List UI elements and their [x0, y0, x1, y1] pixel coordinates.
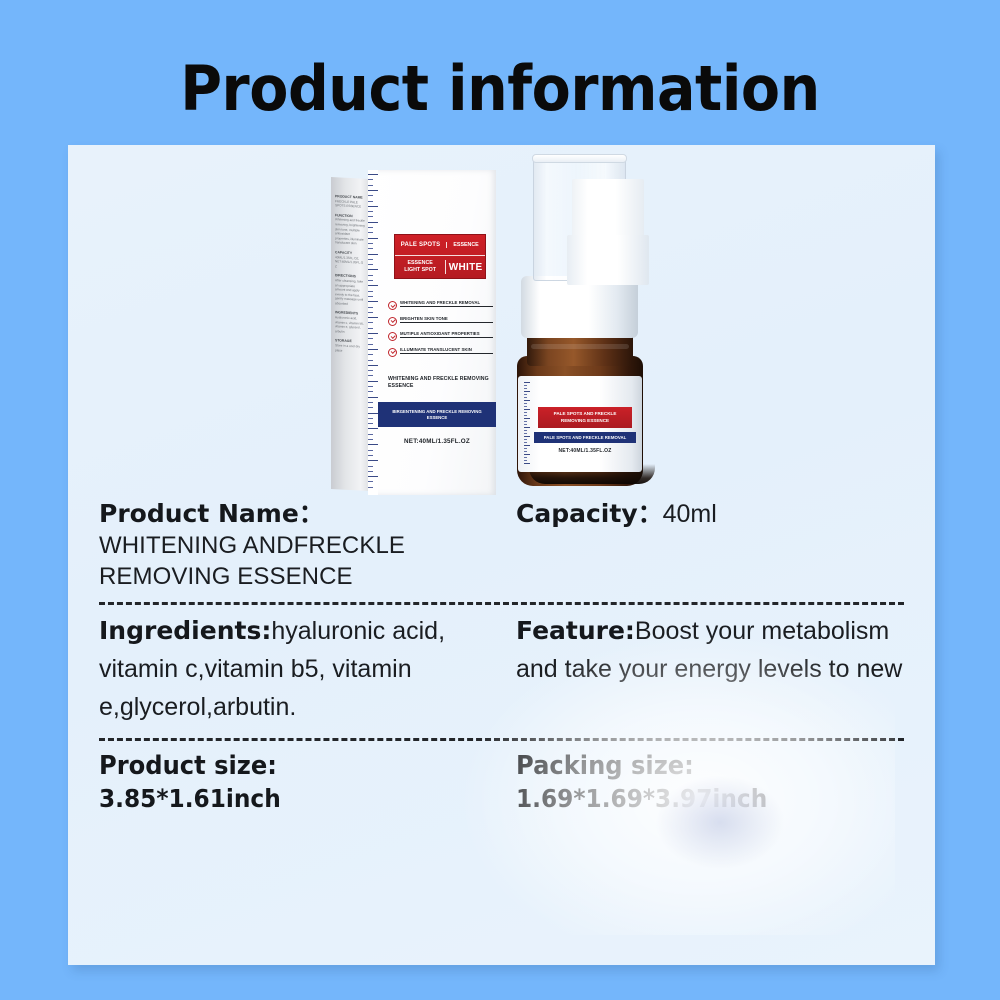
carton-red-label-essence-2: ESSENCE — [407, 260, 432, 266]
carton-net-content: NET:40ML/1.35FL.OZ — [378, 438, 496, 445]
carton-benefit-label: BRIGHTEN SKIN TONE — [400, 316, 493, 323]
carton-side-text-3: 40ML/1.35FL.OZ, NET:40ML/1.35FL.OZ — [335, 255, 363, 268]
ruler-tick — [368, 413, 378, 414]
ruler-tick — [368, 481, 373, 482]
ruler-tick — [368, 349, 378, 350]
spec-list: Product Name： WHITENING ANDFRECKLE REMOV… — [68, 497, 935, 816]
carton-benefit-item: MUTIPLE ANTIOXIDANT PROPERTIES — [388, 331, 493, 341]
ruler-tick — [368, 381, 378, 382]
carton-blue-band: BIRGENTENING AND FRECKLE REMOVING ESSENC… — [378, 402, 496, 427]
ruler-tick — [368, 360, 373, 361]
ruler-tick — [524, 385, 527, 386]
product-name-label: Product Name： — [99, 497, 516, 530]
bottle-red-band: PALE SPOTS AND FRECKLE REMOVING ESSENCE — [538, 407, 632, 428]
ruler-tick — [368, 354, 373, 355]
ruler-tick — [368, 254, 378, 255]
carton-benefit-label: WHITENING AND FRECKLE REMOVAL — [400, 300, 493, 307]
ruler-tick — [368, 434, 373, 435]
ruler-tick — [368, 296, 373, 297]
product-carton: PRODUCT NAME FRECKLE PALE SPOTS ESSENCE … — [331, 170, 496, 495]
product-name-value-line1: WHITENING ANDFRECKLE — [99, 530, 516, 561]
divider-1 — [99, 602, 904, 605]
product-photo: PRODUCT NAME FRECKLE PALE SPOTS ESSENCE … — [68, 145, 935, 495]
spec-row-name-capacity: Product Name： WHITENING ANDFRECKLE REMOV… — [68, 497, 935, 592]
carton-red-label-pale-spots: PALE SPOTS — [395, 242, 447, 248]
ruler-tick — [368, 301, 378, 302]
carton-side-text: PRODUCT NAME FRECKLE PALE SPOTS ESSENCE … — [335, 189, 365, 354]
spec-product-name: Product Name： WHITENING ANDFRECKLE REMOV… — [68, 497, 516, 592]
ruler-tick — [524, 430, 527, 431]
packing-size-label: Packing size: — [516, 750, 906, 782]
spec-row-sizes: Product size: 3.85*1.61inch Packing size… — [68, 750, 935, 816]
carton-side-text-5: Hyaluronic acid, vitamin c, vitamin b5, … — [335, 315, 364, 333]
carton-red-label-essence: ESSENCE — [447, 242, 485, 248]
ruler-tick — [368, 487, 373, 488]
bottle-blue-band: PALE SPOTS AND FRECKLE REMOVAL — [534, 432, 636, 443]
ruler-tick — [524, 463, 530, 464]
carton-red-label-light-spot-text: LIGHT SPOT — [404, 267, 436, 273]
ruler-tick — [368, 312, 373, 313]
ruler-tick — [368, 428, 378, 429]
spec-feature: Feature:Boost your metabolism and take y… — [516, 614, 935, 728]
product-size-label: Product size: — [99, 750, 487, 782]
ruler-tick — [368, 179, 373, 180]
carton-benefit-label: MUTIPLE ANTIOXIDANT PROPERTIES — [400, 331, 493, 338]
carton-side-face: PRODUCT NAME FRECKLE PALE SPOTS ESSENCE … — [331, 177, 369, 491]
ruler-tick — [368, 338, 373, 339]
ruler-tick — [524, 421, 527, 422]
ruler-tick — [368, 418, 373, 419]
ruler-tick — [524, 460, 527, 461]
ruler-tick — [368, 328, 373, 329]
carton-red-label-top-row: PALE SPOTS ESSENCE — [395, 235, 485, 256]
carton-red-label-bottom-row: ESSENCE LIGHT SPOT WHITE — [395, 255, 485, 279]
ruler-tick — [524, 448, 527, 449]
ruler-tick — [368, 291, 373, 292]
ruler-tick — [524, 415, 527, 416]
ruler-tick — [368, 466, 373, 467]
ruler-tick — [524, 406, 527, 407]
ruler-tick — [524, 403, 527, 404]
ruler-tick — [524, 427, 530, 428]
carton-ruler-graphic — [368, 170, 378, 495]
info-panel: PRODUCT NAME FRECKLE PALE SPOTS ESSENCE … — [68, 145, 935, 965]
ruler-tick — [524, 409, 530, 410]
bottle-net-content: NET:40ML/1.35FL.OZ — [534, 448, 636, 454]
ruler-tick — [368, 190, 378, 191]
check-circle-icon — [388, 317, 397, 326]
check-circle-icon — [388, 332, 397, 341]
ruler-tick — [368, 471, 373, 472]
carton-benefit-list: WHITENING AND FRECKLE REMOVALBRIGHTEN SK… — [388, 300, 493, 362]
spec-ingredients: Ingredients:hyaluronic acid, vitamin c,v… — [68, 614, 516, 728]
carton-side-text-4: After cleansing, take an appropriate amo… — [335, 278, 363, 306]
ruler-tick — [368, 174, 378, 175]
ruler-tick — [368, 275, 373, 276]
ruler-tick — [524, 418, 530, 419]
ruler-tick — [524, 445, 530, 446]
ruler-tick — [368, 227, 373, 228]
carton-side-text-2: Whitening and freckle removing, brighten… — [335, 218, 365, 246]
ruler-tick — [524, 454, 530, 455]
ruler-tick — [368, 201, 373, 202]
ruler-tick — [368, 211, 373, 212]
ruler-tick — [368, 206, 378, 207]
ruler-tick — [368, 248, 373, 249]
capacity-value: 40ml — [663, 500, 717, 528]
page-title: Product information — [40, 52, 960, 125]
ruler-tick — [368, 285, 378, 286]
ruler-tick — [524, 439, 527, 440]
ruler-tick — [524, 394, 527, 395]
ruler-tick — [368, 386, 373, 387]
spec-row-ingredients-feature: Ingredients:hyaluronic acid, vitamin c,v… — [68, 614, 935, 728]
ruler-tick — [368, 243, 373, 244]
bottle-clear-cap — [533, 156, 626, 281]
divider-2 — [99, 738, 904, 741]
ruler-tick — [368, 216, 373, 217]
carton-side-text-1: FRECKLE PALE SPOTS ESSENCE — [335, 199, 361, 209]
ruler-tick — [524, 442, 527, 443]
ruler-tick — [524, 457, 527, 458]
bottle-label-ruler-graphic — [524, 382, 530, 466]
ruler-tick — [368, 344, 373, 345]
bottle-cap-inner-lower — [567, 235, 649, 285]
ruler-tick — [524, 397, 527, 398]
carton-benefit-item: WHITENING AND FRECKLE REMOVAL — [388, 300, 493, 310]
bottle-label: PALE SPOTS AND FRECKLE REMOVING ESSENCE … — [518, 376, 642, 472]
ruler-tick — [368, 476, 378, 477]
carton-tagline: WHITENING AND FRECKLE REMOVING ESSENCE — [388, 376, 498, 390]
ruler-tick — [524, 433, 527, 434]
carton-benefit-label: ILLUMINATE TRANSLUCENT SKIN — [400, 347, 493, 354]
ruler-tick — [368, 391, 373, 392]
ruler-tick — [524, 424, 527, 425]
ruler-tick — [368, 307, 373, 308]
carton-side-text-6: Store in a cool dry place — [335, 343, 360, 352]
product-bottle: PALE SPOTS AND FRECKLE REMOVING ESSENCE … — [505, 150, 655, 495]
bottle-pump-collar — [521, 276, 638, 338]
bottle-cap-top-rim — [532, 154, 627, 163]
ruler-tick — [368, 444, 378, 445]
ruler-tick — [368, 322, 373, 323]
product-size-value: 3.85*1.61inch — [99, 782, 487, 816]
ruler-tick — [368, 238, 378, 239]
ruler-tick — [368, 460, 378, 461]
spec-product-size: Product size: 3.85*1.61inch — [68, 750, 516, 816]
ruler-tick — [368, 195, 373, 196]
ruler-tick — [368, 365, 378, 366]
ruler-tick — [524, 382, 530, 383]
carton-red-label-light-spot: ESSENCE LIGHT SPOT — [395, 260, 446, 274]
ingredients-label: Ingredients: — [99, 616, 271, 645]
check-circle-icon — [388, 301, 397, 310]
ruler-tick — [368, 232, 373, 233]
ruler-tick — [368, 269, 378, 270]
ruler-tick — [524, 388, 527, 389]
ruler-tick — [368, 333, 378, 334]
ruler-tick — [368, 397, 378, 398]
ruler-tick — [368, 407, 373, 408]
ruler-tick — [524, 400, 530, 401]
ruler-tick — [368, 317, 378, 318]
capacity-label: Capacity： — [516, 499, 663, 528]
carton-red-label-white: WHITE — [446, 262, 485, 273]
carton-benefit-item: BRIGHTEN SKIN TONE — [388, 316, 493, 326]
ruler-tick — [524, 436, 530, 437]
ruler-tick — [368, 280, 373, 281]
ruler-tick — [368, 450, 373, 451]
ruler-tick — [368, 455, 373, 456]
ruler-tick — [368, 370, 373, 371]
feature-label: Feature: — [516, 616, 635, 645]
carton-red-label: PALE SPOTS ESSENCE ESSENCE LIGHT SPOT WH… — [394, 234, 486, 279]
product-name-value-line2: REMOVING ESSENCE — [99, 561, 516, 592]
ruler-tick — [368, 264, 373, 265]
ruler-tick — [368, 185, 373, 186]
ruler-tick — [368, 259, 373, 260]
ruler-tick — [368, 423, 373, 424]
ruler-tick — [524, 412, 527, 413]
ruler-tick — [368, 402, 373, 403]
spec-capacity: Capacity：40ml — [516, 497, 935, 592]
ruler-tick — [524, 451, 527, 452]
ruler-tick — [368, 222, 378, 223]
carton-benefit-item: ILLUMINATE TRANSLUCENT SKIN — [388, 347, 493, 357]
ruler-tick — [368, 375, 373, 376]
ruler-tick — [524, 391, 530, 392]
check-circle-icon — [388, 348, 397, 357]
spec-packing-size: Packing size: 1.69*1.69*3.97inch — [516, 750, 935, 816]
ruler-tick — [368, 439, 373, 440]
packing-size-value: 1.69*1.69*3.97inch — [516, 782, 906, 816]
